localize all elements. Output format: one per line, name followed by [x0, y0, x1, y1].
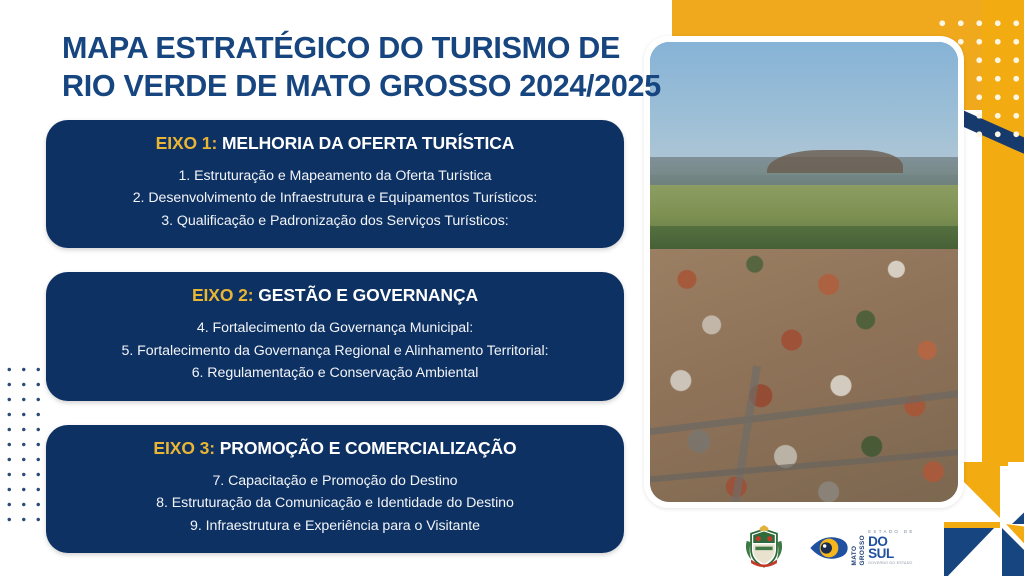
eixo-card-3-item-2: 8. Estruturação da Comunicação e Identid…	[64, 492, 606, 514]
eixo-card-2-title: GESTÃO E GOVERNANÇA	[258, 285, 478, 305]
photo-plateau	[767, 150, 903, 173]
eixo-card-3-heading: EIXO 3: PROMOÇÃO E COMERCIALIZAÇÃO	[64, 438, 606, 459]
eixo-card-3-item-1: 7. Capacitação e Promoção do Destino	[64, 470, 606, 492]
eixo-card-2-item-1: 4. Fortalecimento da Governança Municipa…	[64, 317, 606, 339]
municipal-coat-of-arms-icon	[741, 525, 787, 571]
eixo-card-1-item-1: 1. Estruturação e Mapeamento da Oferta T…	[64, 165, 606, 187]
state-logo-wordmark: MATO GROSSO ESTADO DE DO SUL GOVERNO DO …	[852, 530, 914, 565]
eixo-card-1-heading: EIXO 1: MELHORIA DA OFERTA TURÍSTICA	[64, 133, 606, 154]
state-logo-word-mato: MATO	[852, 535, 858, 565]
photo-road-vertical	[731, 366, 761, 502]
eixo-card-3-label: EIXO 3:	[153, 438, 215, 458]
state-government-logo: MATO GROSSO ESTADO DE DO SUL GOVERNO DO …	[809, 530, 914, 565]
eixo-card-1-item-3: 3. Qualificação e Padronização dos Servi…	[64, 210, 606, 232]
eixo-card-1[interactable]: EIXO 1: MELHORIA DA OFERTA TURÍSTICA 1. …	[46, 120, 624, 248]
eixo-card-list: EIXO 1: MELHORIA DA OFERTA TURÍSTICA 1. …	[46, 120, 624, 553]
photo-townscape	[650, 249, 958, 502]
eixo-card-2[interactable]: EIXO 2: GESTÃO E GOVERNANÇA 4. Fortaleci…	[46, 272, 624, 400]
aerial-photo-image	[650, 42, 958, 502]
decor-dot-grid-bottom-left	[0, 358, 40, 528]
logo-bar: MATO GROSSO ESTADO DE DO SUL GOVERNO DO …	[738, 524, 918, 572]
eixo-card-2-item-2: 5. Fortalecimento da Governança Regional…	[64, 340, 606, 362]
aerial-photo-frame	[644, 36, 964, 508]
slide-canvas: MAPA ESTRATÉGICO DO TURISMO DE RIO VERDE…	[0, 0, 1024, 576]
eixo-card-2-label: EIXO 2:	[192, 285, 254, 305]
page-title-line1: MAPA ESTRATÉGICO DO TURISMO DE	[62, 30, 662, 68]
state-logo-vertical-words: MATO GROSSO	[852, 535, 866, 565]
state-logo-subtitle: GOVERNO DO ESTADO	[868, 562, 913, 566]
eixo-card-3[interactable]: EIXO 3: PROMOÇÃO E COMERCIALIZAÇÃO 7. Ca…	[46, 425, 624, 553]
photo-road-horizontal	[650, 386, 958, 437]
state-logo-word-grosso: GROSSO	[860, 535, 866, 565]
state-logo-main-words: ESTADO DE DO SUL GOVERNO DO ESTADO	[868, 530, 915, 565]
photo-road-horizontal-2	[650, 446, 958, 484]
eixo-card-1-item-2: 2. Desenvolvimento de Infraestrutura e E…	[64, 187, 606, 209]
eixo-card-3-title: PROMOÇÃO E COMERCIALIZAÇÃO	[220, 438, 517, 458]
page-title: MAPA ESTRATÉGICO DO TURISMO DE RIO VERDE…	[62, 30, 662, 106]
eixo-card-1-title: MELHORIA DA OFERTA TURÍSTICA	[222, 133, 514, 153]
page-title-line2: RIO VERDE DE MATO GROSSO 2024/2025	[62, 68, 662, 106]
eixo-card-1-label: EIXO 1:	[156, 133, 218, 153]
eye-icon	[809, 535, 849, 561]
state-logo-word-sul: SUL	[868, 548, 894, 561]
eixo-card-2-heading: EIXO 2: GESTÃO E GOVERNANÇA	[64, 285, 606, 306]
eixo-card-3-item-3: 9. Infraestrutura e Experiência para o V…	[64, 515, 606, 537]
eixo-card-2-item-3: 6. Regulamentação e Conservação Ambienta…	[64, 362, 606, 384]
